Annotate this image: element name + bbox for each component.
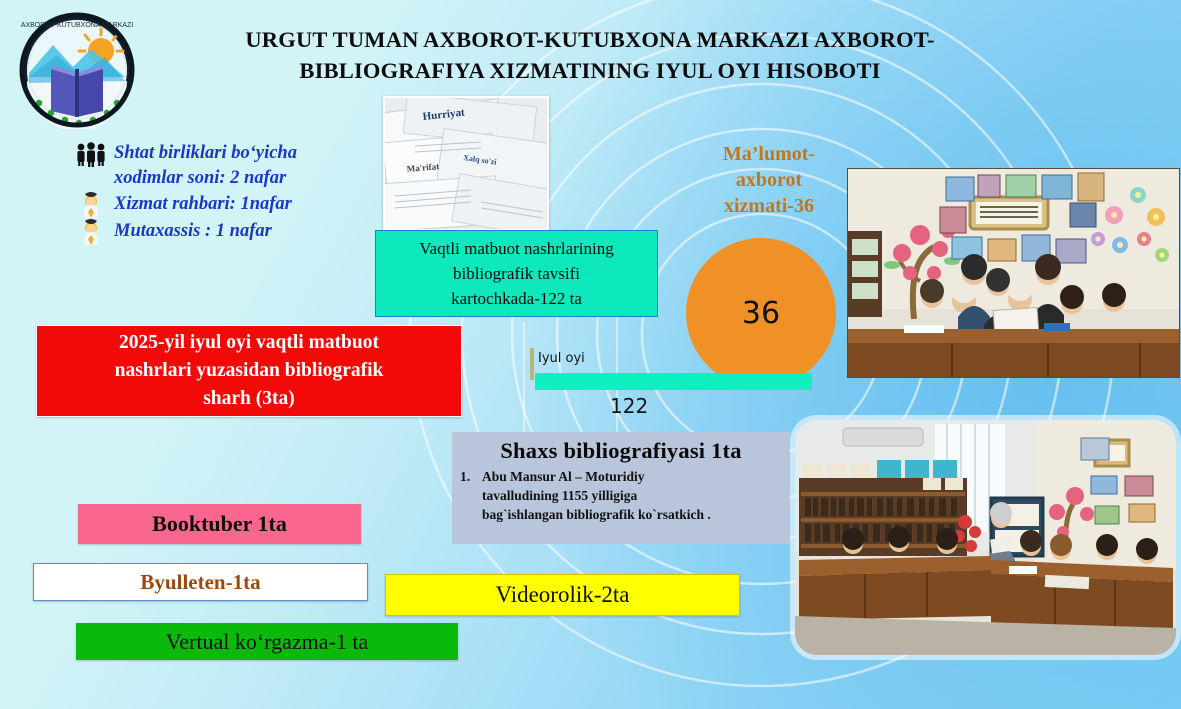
list-item: 1. Abu Mansur Al – Moturidiy tavalludini… (460, 467, 782, 524)
videorolik-badge: Videorolik-2ta (385, 574, 740, 616)
periodicals-card-count-text: Vaqtli matbuot nashrlarining bibliografi… (419, 236, 614, 311)
list-item-number: 1. (460, 467, 474, 524)
bar-chart-bar (535, 373, 812, 390)
bar-chart-axis (530, 348, 534, 380)
byulleten-badge: Byulleten-1ta (33, 563, 368, 601)
bibliographic-review-box: 2025-yil iyul oyi vaqtli matbuot nashrla… (36, 325, 462, 417)
bibliographic-review-text: 2025-yil iyul oyi vaqtli matbuot nashrla… (115, 329, 384, 413)
staff-row: Shtat birliklari bo‘yicha xodimlar soni:… (74, 141, 374, 191)
personal-bibliography-box: Shaxs bibliografiyasi 1ta 1. Abu Mansur … (452, 432, 790, 544)
periodicals-bar-chart: Iyul oyi 122 (530, 348, 820, 418)
bar-chart-category-label: Iyul oyi (538, 351, 585, 366)
reading-room-photo (847, 168, 1180, 378)
personal-bibliography-heading: Shaxs bibliografiyasi 1ta (460, 438, 782, 464)
page-title-line-1: URGUT TUMAN AXBOROT-KUTUBXONA MARKAZI AX… (195, 24, 985, 55)
vertual-korgazma-badge: Vertual ko‘rgazma-1 ta (76, 623, 458, 660)
bar-chart-value-label: 122 (610, 394, 648, 418)
booktuber-badge: Booktuber 1ta (78, 504, 361, 544)
infographic-page: AXBOROT-KUTUBXONA MARKAZI URGUT TUMAN AX… (0, 0, 1181, 709)
group-of-people-icon (74, 141, 108, 167)
list-item-text: Abu Mansur Al – Moturidiy tavalludining … (482, 467, 711, 524)
staff-row: Xizmat rahbari: 1nafar (74, 192, 374, 218)
svg-text:AXBOROT-KUTUBXONA MARKAZI: AXBOROT-KUTUBXONA MARKAZI (21, 22, 133, 29)
newspaper-photo: Hurriyat Ma'rifat Xalq so'zi (383, 96, 549, 231)
staff-summary: Shtat birliklari bo‘yicha xodimlar soni:… (74, 141, 374, 246)
staff-row-label: Shtat birliklari bo‘yicha xodimlar soni:… (114, 141, 297, 191)
person-avatar-icon (74, 219, 108, 245)
information-service-value: 36 (742, 296, 780, 331)
page-title-line-2: BIBLIOGRAFIYA XIZMATINING IYUL OYI HISOB… (195, 55, 985, 86)
staff-row-label: Mutaxassis : 1 nafar (114, 219, 272, 243)
staff-row-label: Xizmat rahbari: 1nafar (114, 192, 292, 216)
page-title: URGUT TUMAN AXBOROT-KUTUBXONA MARKAZI AX… (195, 24, 985, 86)
staff-row: Mutaxassis : 1 nafar (74, 219, 374, 245)
person-avatar-icon (74, 192, 108, 218)
urgut-library-emblem-logo: AXBOROT-KUTUBXONA MARKAZI (13, 11, 141, 129)
vertual-korgazma-badge-label: Vertual ko‘rgazma-1 ta (166, 629, 368, 655)
booktuber-badge-label: Booktuber 1ta (152, 511, 287, 537)
periodicals-card-count-box: Vaqtli matbuot nashrlarining bibliografi… (375, 230, 658, 317)
library-event-photo (795, 420, 1176, 655)
byulleten-badge-label: Byulleten-1ta (140, 570, 260, 595)
information-service-label: Ma’lumot- axborot xizmati-36 (694, 141, 844, 219)
videorolik-badge-label: Videorolik-2ta (495, 582, 629, 608)
